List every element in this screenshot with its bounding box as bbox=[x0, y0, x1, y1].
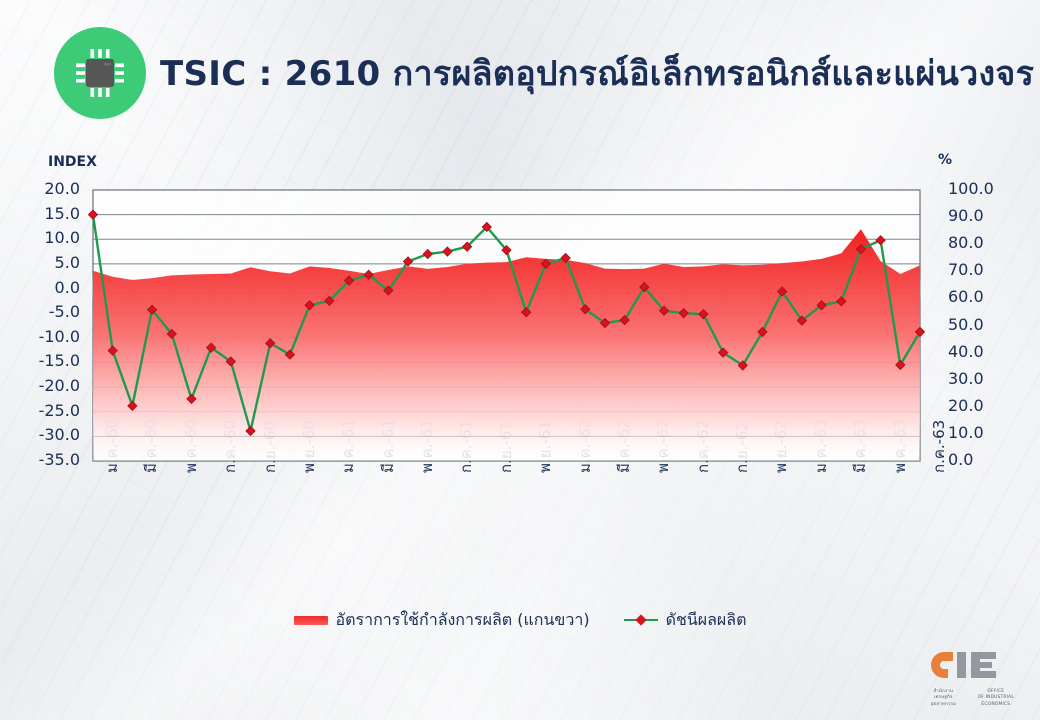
oie-logo: สำนักงาน เศรษฐกิจอุตสาหกรรม OFFICE OF IN… bbox=[926, 648, 1022, 710]
legend-item-production-index[interactable]: ดัชนีผลผลิต bbox=[624, 608, 747, 633]
oie-caption-th-line2: เศรษฐกิจอุตสาหกรรม bbox=[931, 695, 957, 706]
legend-swatch-area-icon bbox=[294, 616, 328, 625]
legend-label-production-index: ดัชนีผลผลิต bbox=[666, 608, 747, 633]
microchip-icon bbox=[54, 27, 146, 119]
legend-swatch-line-icon bbox=[624, 614, 658, 626]
oie-logo-caption: สำนักงาน เศรษฐกิจอุตสาหกรรม OFFICE OF IN… bbox=[926, 689, 1022, 708]
legend-item-capacity-utilization[interactable]: อัตราการใช้กำลังการผลิต (แกนขวา) bbox=[294, 608, 590, 633]
legend-label-capacity-utilization: อัตราการใช้กำลังการผลิต (แกนขวา) bbox=[336, 608, 590, 633]
oie-caption-en-line1: OFFICE bbox=[987, 689, 1004, 694]
oie-caption-th-line1: สำนักงาน bbox=[934, 689, 954, 694]
page-title: TSIC : 2610 การผลิตอุปกรณ์อิเล็กทรอนิกส์… bbox=[160, 46, 1034, 100]
header: TSIC : 2610 การผลิตอุปกรณ์อิเล็กทรอนิกส์… bbox=[0, 0, 1040, 130]
chart-legend: อัตราการใช้กำลังการผลิต (แกนขวา) ดัชนีผล… bbox=[0, 605, 1040, 635]
oie-caption-en-line2: OF INDUSTRIAL ECONOMICS bbox=[978, 695, 1014, 706]
oie-logo-mark bbox=[931, 648, 1017, 688]
